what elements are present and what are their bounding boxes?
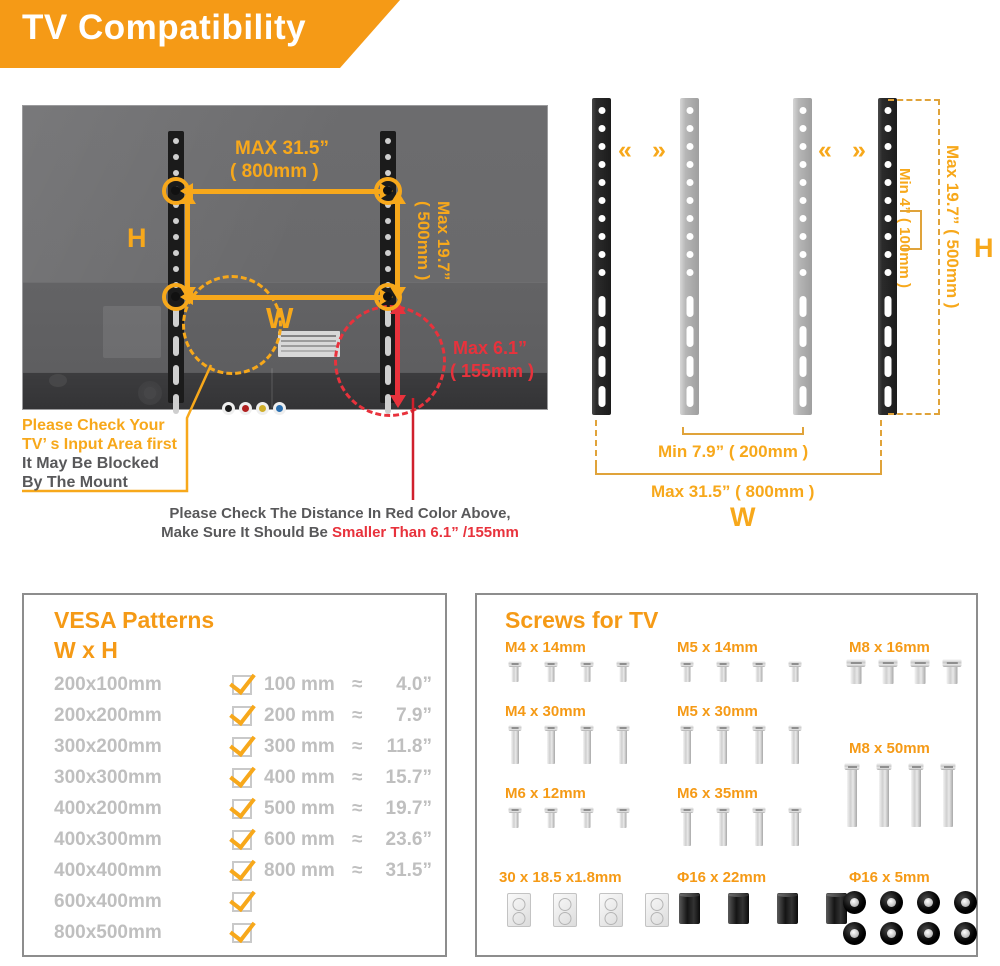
vesa-hole-top-left	[171, 186, 180, 195]
mounting-plate-icon	[645, 893, 669, 927]
max-height-label: Max 19.7”	[433, 201, 453, 280]
approx-equal-icon: ≈	[352, 860, 376, 882]
vesa-hole-bottom-right	[383, 292, 392, 301]
approx-equal-icon: ≈	[352, 767, 376, 789]
max-h-label: Max 19.7” ( 500mm )	[942, 145, 962, 308]
washer-icon	[843, 922, 866, 945]
screw-long-icon	[615, 725, 631, 767]
h-dimension-line-right	[395, 197, 400, 291]
screw-group-label: M5 x 30mm	[677, 703, 758, 720]
screw-group-items	[679, 807, 803, 849]
h-axis-letter-bracket: H	[974, 233, 994, 264]
vesa-pattern-label: 600x400mm	[54, 891, 232, 913]
clearance-dimension-line	[395, 307, 400, 399]
washer-icon	[880, 922, 903, 945]
screw-long-icon	[715, 807, 731, 849]
conversion-inch: 4.0”	[376, 674, 432, 696]
max-height-sublabel: ( 500mm )	[413, 201, 433, 280]
min-h-label: Min 4” ( 100mm )	[896, 168, 913, 288]
screw-short-icon	[543, 807, 559, 831]
clearance-arrow-down	[390, 395, 406, 408]
w-dimension-line	[190, 295, 388, 300]
conversion-row: 500 mm≈19.7”	[264, 793, 432, 824]
screw-group-label: M4 x 14mm	[505, 639, 586, 656]
washer-icon	[843, 891, 866, 914]
screw-group-label: M4 x 30mm	[505, 703, 586, 720]
approx-equal-icon: ≈	[352, 674, 376, 696]
width-dimension-line	[190, 189, 388, 194]
conversion-row: 800 mm≈31.5”	[264, 855, 432, 886]
warning-line-1: Please Check Your	[22, 416, 177, 435]
vesa-checkbox-checked-icon[interactable]	[232, 768, 252, 788]
screw-short-icon	[507, 661, 523, 685]
footnote-emphasis: Smaller Than 6.1” /155mm	[332, 524, 519, 541]
screw-group-label: Φ16 x 5mm	[849, 869, 930, 886]
screw-group-items	[507, 807, 631, 831]
conversion-inch: 15.7”	[376, 767, 432, 789]
vesa-pattern-row: 200x200mm	[54, 700, 252, 731]
warning-line-4: By The Mount	[22, 473, 177, 492]
washer-icon	[954, 922, 977, 945]
input-area-warning: Please Check Your TV’ s Input Area first…	[22, 416, 177, 492]
screw-group-label: M6 x 12mm	[505, 785, 586, 802]
mm-to-inch-conversion-list: 100 mm≈4.0”200 mm≈7.9”300 mm≈11.8”400 mm…	[264, 669, 432, 886]
screw-group-label: M6 x 35mm	[677, 785, 758, 802]
spacer-icon	[728, 893, 749, 924]
approx-equal-icon: ≈	[352, 705, 376, 727]
approx-equal-icon: ≈	[352, 829, 376, 851]
page-title: TV Compatibility	[22, 8, 306, 48]
max-h-top-tick	[888, 99, 940, 101]
screw-long-icon	[715, 725, 731, 767]
tv-compatibility-figure: MAX 31.5” ( 800mm ) Max 19.7” ( 500mm ) …	[22, 105, 548, 410]
screw-thick-icon	[877, 659, 899, 687]
conversion-inch: 23.6”	[376, 829, 432, 851]
tv-speaker-grille	[138, 381, 162, 405]
bracket-range-figure: « » « » Max 19.7” ( 500mm ) Min 4” ( 100…	[570, 90, 995, 530]
screw-long-icon	[507, 725, 523, 767]
conversion-mm: 800 mm	[264, 860, 352, 882]
footnote-line-2: Make Sure It Should Be Smaller Than 6.1”…	[125, 523, 555, 542]
conversion-mm: 600 mm	[264, 829, 352, 851]
h-axis-letter: H	[127, 223, 147, 254]
approx-equal-icon: ≈	[352, 798, 376, 820]
conversion-row: 400 mm≈15.7”	[264, 762, 432, 793]
tv-av-input-jacks	[222, 402, 286, 415]
vesa-hole-top-right	[383, 186, 392, 195]
screw-short-icon	[715, 661, 731, 685]
screw-xlong-icon	[875, 763, 893, 829]
vesa-panel-title-line2: W x H	[54, 637, 118, 664]
spacer-icon	[679, 893, 700, 924]
vesa-checkbox-checked-icon[interactable]	[232, 799, 252, 819]
screw-short-icon	[507, 807, 523, 831]
conversion-row: 200 mm≈7.9”	[264, 700, 432, 731]
screw-long-icon	[679, 725, 695, 767]
chevron-right-icon-1: »	[652, 138, 666, 163]
screw-short-icon	[615, 807, 631, 831]
conversion-inch: 31.5”	[376, 860, 432, 882]
screw-group-items	[507, 661, 631, 685]
vesa-pattern-label: 200x100mm	[54, 674, 232, 696]
screw-group-label: M5 x 14mm	[677, 639, 758, 656]
conversion-row: 100 mm≈4.0”	[264, 669, 432, 700]
tv-rail-left	[168, 131, 184, 403]
screw-long-icon	[751, 807, 767, 849]
max-clearance-label: Max 6.1”	[453, 338, 527, 359]
mounting-plate-icon	[553, 893, 577, 927]
screw-short-icon	[579, 661, 595, 685]
vesa-pattern-row: 300x200mm	[54, 731, 252, 762]
vesa-checkbox-checked-icon[interactable]	[232, 706, 252, 726]
screw-group-items	[507, 725, 631, 767]
conversion-row: 300 mm≈11.8”	[264, 731, 432, 762]
rail-outer-right	[878, 98, 897, 415]
footnote-prefix: Make Sure It Should Be	[161, 524, 332, 541]
screw-short-icon	[543, 661, 559, 685]
screw-group-label: M8 x 50mm	[849, 740, 930, 757]
max-w-label: Max 31.5” ( 800mm )	[651, 482, 814, 502]
min-w-dimension-line	[682, 433, 804, 435]
max-w-extension-left	[595, 420, 597, 466]
max-w-extension-right	[880, 420, 882, 466]
screw-xlong-icon	[907, 763, 925, 829]
screw-long-icon	[787, 725, 803, 767]
max-w-dimension-line	[595, 473, 882, 475]
vesa-checkbox-checked-icon[interactable]	[232, 675, 252, 695]
min-w-tick-left	[682, 427, 684, 435]
max-w-tick-right	[880, 465, 882, 475]
conversion-mm: 300 mm	[264, 736, 352, 758]
screw-long-icon	[679, 807, 695, 849]
vesa-pattern-label: 200x200mm	[54, 705, 232, 727]
rail-inner-left	[680, 98, 699, 415]
washer-icon	[954, 891, 977, 914]
vesa-pattern-row: 300x300mm	[54, 762, 252, 793]
vesa-pattern-row: 400x200mm	[54, 793, 252, 824]
screw-short-icon	[579, 807, 595, 831]
vesa-hole-bottom-left	[171, 292, 180, 301]
vesa-checkbox-checked-icon[interactable]	[232, 737, 252, 757]
vesa-checkbox-checked-icon[interactable]	[232, 861, 252, 881]
chevron-right-icon-2: »	[852, 138, 866, 163]
warning-line-2: TV’ s Input Area first	[22, 435, 177, 454]
mounting-plate-icon	[507, 893, 531, 927]
vesa-checkbox-checked-icon[interactable]	[232, 830, 252, 850]
vesa-pattern-label: 300x200mm	[54, 736, 232, 758]
tv-port-plate	[103, 306, 161, 358]
max-width-sublabel: ( 800mm )	[230, 161, 319, 183]
conversion-row: 600 mm≈23.6”	[264, 824, 432, 855]
screw-group-items	[843, 891, 991, 945]
chevron-left-icon-2: «	[818, 138, 832, 163]
mounting-plate-icon	[599, 893, 623, 927]
vesa-pattern-row: 600x400mm	[54, 886, 252, 917]
h-dimension-line-left	[185, 197, 190, 291]
conversion-mm: 200 mm	[264, 705, 352, 727]
conversion-mm: 100 mm	[264, 674, 352, 696]
vesa-checkbox-checked-icon[interactable]	[232, 892, 252, 912]
clearance-footnote: Please Check The Distance In Red Color A…	[125, 504, 555, 542]
vesa-patterns-panel: VESA Patterns W x H 200x100mm200x200mm30…	[22, 593, 447, 957]
washer-icon	[917, 891, 940, 914]
vesa-pattern-label: 400x200mm	[54, 798, 232, 820]
screw-group-items	[507, 893, 669, 927]
screw-group-items	[679, 893, 847, 924]
screw-short-icon	[751, 661, 767, 685]
screw-xlong-icon	[843, 763, 861, 829]
min-h-dimension-line	[920, 210, 922, 250]
vesa-pattern-label: 400x300mm	[54, 829, 232, 851]
screw-long-icon	[751, 725, 767, 767]
screw-xlong-icon	[939, 763, 957, 829]
w-axis-letter: W	[266, 303, 293, 336]
max-clearance-sublabel: ( 155mm )	[450, 361, 534, 382]
vesa-pattern-row: 400x400mm	[54, 855, 252, 886]
screw-thick-icon	[909, 659, 931, 687]
rail-inner-right	[793, 98, 812, 415]
tv-seam	[23, 282, 547, 283]
screw-group-items	[679, 725, 803, 767]
screw-short-icon	[615, 661, 631, 685]
vesa-pattern-row: 400x300mm	[54, 824, 252, 855]
screw-thick-icon	[845, 659, 867, 687]
min-w-label: Min 7.9” ( 200mm )	[658, 442, 808, 462]
max-width-label: MAX 31.5”	[235, 138, 329, 160]
screw-short-icon	[787, 661, 803, 685]
screw-thick-icon	[941, 659, 963, 687]
max-h-bottom-tick	[888, 413, 940, 415]
screw-group-label: M8 x 16mm	[849, 639, 930, 656]
screw-long-icon	[543, 725, 559, 767]
screws-for-tv-panel: Screws for TV M4 x 14mmM5 x 14mmM8 x 16m…	[475, 593, 978, 957]
footnote-line-1: Please Check The Distance In Red Color A…	[125, 504, 555, 523]
tv-mount-boss	[49, 374, 67, 387]
spacer-icon	[777, 893, 798, 924]
vesa-pattern-label: 800x500mm	[54, 922, 232, 944]
warning-line-3: It May Be Blocked	[22, 454, 177, 473]
vesa-pattern-row: 800x500mm	[54, 917, 252, 948]
screw-group-label: Φ16 x 22mm	[677, 869, 766, 886]
screw-long-icon	[579, 725, 595, 767]
rail-outer-left	[592, 98, 611, 415]
chevron-left-icon-1: «	[618, 138, 632, 163]
vesa-pattern-list: 200x100mm200x200mm300x200mm300x300mm400x…	[54, 669, 252, 948]
screw-group-items	[843, 763, 957, 829]
screw-group-label: 30 x 18.5 x1.8mm	[499, 869, 622, 886]
vesa-pattern-label: 400x400mm	[54, 860, 232, 882]
washer-icon	[917, 922, 940, 945]
conversion-mm: 400 mm	[264, 767, 352, 789]
vesa-pattern-row: 200x100mm	[54, 669, 252, 700]
conversion-inch: 11.8”	[376, 736, 432, 758]
screw-group-items	[679, 661, 803, 685]
washer-icon	[880, 891, 903, 914]
screw-short-icon	[679, 661, 695, 685]
conversion-inch: 7.9”	[376, 705, 432, 727]
screws-panel-title: Screws for TV	[505, 607, 658, 634]
min-w-tick-right	[802, 427, 804, 435]
vesa-checkbox-checked-icon[interactable]	[232, 923, 252, 943]
conversion-mm: 500 mm	[264, 798, 352, 820]
approx-equal-icon: ≈	[352, 736, 376, 758]
conversion-inch: 19.7”	[376, 798, 432, 820]
vesa-panel-title-line1: VESA Patterns	[54, 607, 214, 634]
vesa-pattern-label: 300x300mm	[54, 767, 232, 789]
max-w-tick-left	[595, 465, 597, 475]
screw-group-items	[845, 659, 963, 687]
screw-long-icon	[787, 807, 803, 849]
w-axis-letter-bracket: W	[730, 502, 755, 533]
max-h-dimension-line	[938, 99, 940, 415]
